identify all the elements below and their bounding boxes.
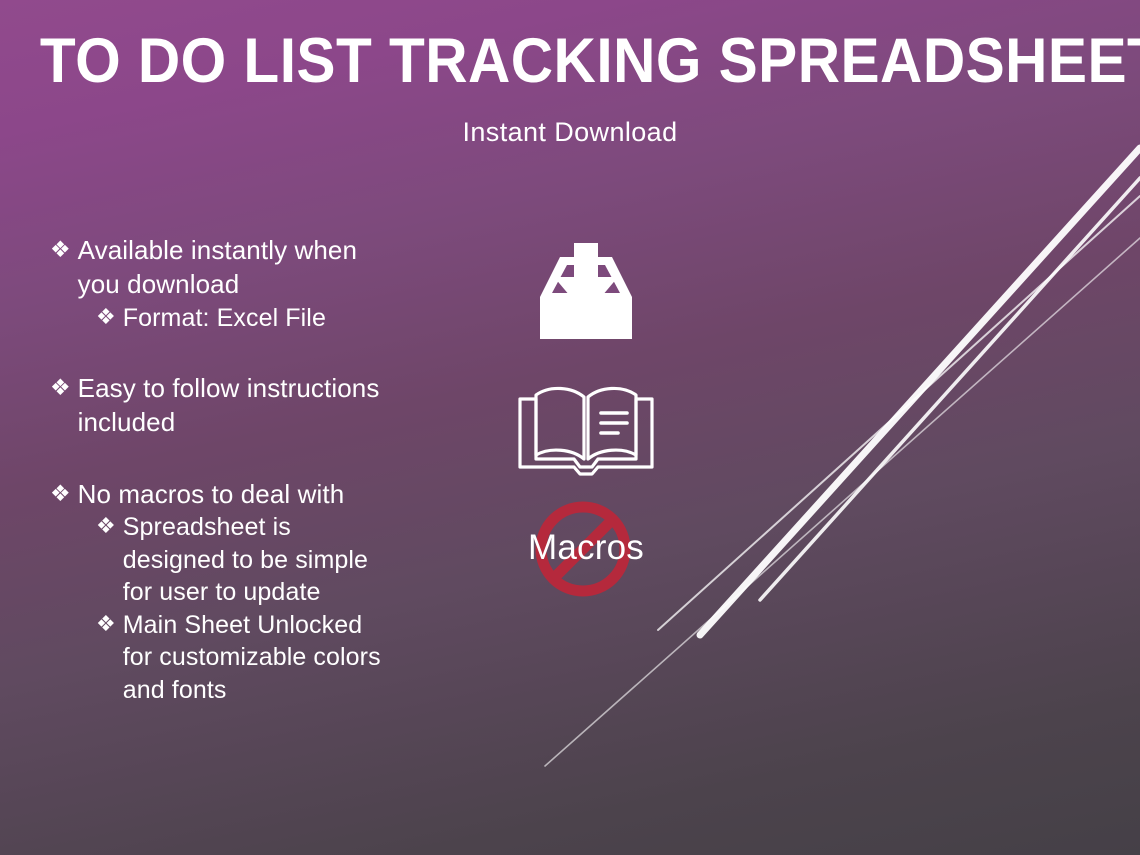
- page-title: TO DO LIST TRACKING SPREADSHEET: [40, 30, 1100, 93]
- page-subtitle: Instant Download: [0, 117, 1140, 148]
- list-item: ❖ Spreadsheet isdesigned to be simplefor…: [96, 511, 470, 609]
- list-item-label: Main Sheet Unlockedfor customizable colo…: [123, 609, 381, 707]
- bullet-diamond-icon: ❖: [50, 372, 71, 402]
- open-book-icon: [516, 381, 656, 482]
- download-inbox-icon-svg: [534, 243, 638, 349]
- feature-bullet-list: ❖ Available instantly whenyou download ❖…: [50, 234, 470, 706]
- list-item-label: Easy to follow instructionsincluded: [78, 372, 380, 440]
- title-block: TO DO LIST TRACKING SPREADSHEET Instant …: [0, 30, 1140, 148]
- list-item-label: No macros to deal with: [78, 478, 345, 512]
- macros-label: Macros: [528, 528, 768, 568]
- list-item: ❖ Main Sheet Unlockedfor customizable co…: [96, 609, 470, 707]
- list-item-label: Available instantly whenyou download: [78, 234, 357, 302]
- list-item: ❖ Format: Excel File: [96, 302, 470, 335]
- bullet-group: ❖ Easy to follow instructionsincluded: [50, 372, 470, 440]
- bullet-group: ❖ No macros to deal with ❖ Spreadsheet i…: [50, 478, 470, 707]
- bullet-diamond-icon: ❖: [96, 511, 116, 540]
- book-left-page: [536, 388, 584, 459]
- slide-canvas: TO DO LIST TRACKING SPREADSHEET Instant …: [0, 0, 1140, 855]
- bullet-diamond-icon: ❖: [50, 478, 71, 508]
- stripe-medium-1: [760, 178, 1140, 600]
- open-book-icon-svg: [516, 381, 656, 477]
- list-item: ❖ No macros to deal with: [50, 478, 470, 512]
- bullet-diamond-icon: ❖: [96, 302, 116, 331]
- list-item-label: Spreadsheet isdesigned to be simplefor u…: [123, 511, 368, 609]
- bullet-diamond-icon: ❖: [50, 234, 71, 264]
- download-icon: [534, 243, 638, 354]
- list-item: ❖ Easy to follow instructionsincluded: [50, 372, 470, 440]
- list-item-label: Format: Excel File: [123, 302, 326, 335]
- list-item: ❖ Available instantly whenyou download: [50, 234, 470, 302]
- bullet-group: ❖ Available instantly whenyou download ❖…: [50, 234, 470, 334]
- book-cover: [520, 399, 652, 474]
- bullet-diamond-icon: ❖: [96, 609, 116, 638]
